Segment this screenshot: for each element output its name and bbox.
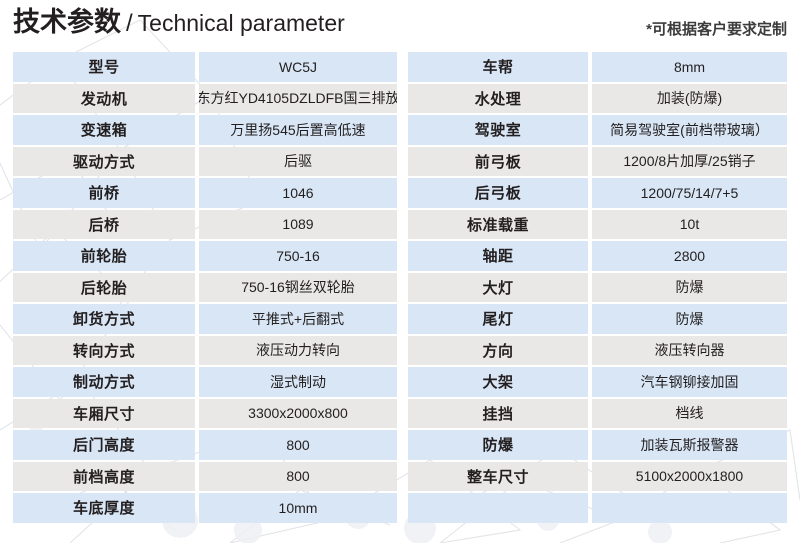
parameter-value: 东方红YD4105DZLDFB国三排放 xyxy=(199,84,397,114)
table-row: 卸货方式平推式+后翻式 xyxy=(13,304,397,334)
table-row: 后弓板1200/75/14/7+5 xyxy=(408,178,787,208)
parameter-label: 水处理 xyxy=(408,84,588,114)
parameter-label: 轴距 xyxy=(408,241,588,271)
parameter-label: 后轮胎 xyxy=(13,273,195,303)
table-row: 发动机东方红YD4105DZLDFB国三排放 xyxy=(13,84,397,114)
parameter-label: 防爆 xyxy=(408,430,588,460)
parameter-value: 液压转向器 xyxy=(592,336,787,366)
table-row: 方向液压转向器 xyxy=(408,336,787,366)
table-row: 车厢尺寸3300x2000x800 xyxy=(13,399,397,429)
page-header: 技术参数/Technical parameter *可根据客户要求定制 xyxy=(0,0,800,50)
table-row: 变速箱万里扬545后置高低速 xyxy=(13,115,397,145)
page-title-latin: Technical parameter xyxy=(138,10,345,36)
parameter-value: 10t xyxy=(592,210,787,240)
table-row: 尾灯防爆 xyxy=(408,304,787,334)
parameter-value: 3300x2000x800 xyxy=(199,399,397,429)
table-row: 转向方式液压动力转向 xyxy=(13,336,397,366)
parameter-label: 前桥 xyxy=(13,178,195,208)
page-title: 技术参数/Technical parameter xyxy=(13,5,345,44)
table-row: 制动方式湿式制动 xyxy=(13,367,397,397)
parameter-table-left: 型号WC5J发动机东方红YD4105DZLDFB国三排放变速箱万里扬545后置高… xyxy=(13,52,397,523)
parameter-label: 方向 xyxy=(408,336,588,366)
table-row: 挂挡档线 xyxy=(408,399,787,429)
parameter-value: 1200/75/14/7+5 xyxy=(592,178,787,208)
parameter-label: 制动方式 xyxy=(13,367,195,397)
table-row: 防爆加装瓦斯报警器 xyxy=(408,430,787,460)
table-row: 大架汽车钢铆接加固 xyxy=(408,367,787,397)
parameter-label: 驱动方式 xyxy=(13,147,195,177)
parameter-label: 驾驶室 xyxy=(408,115,588,145)
table-row: 驱动方式后驱 xyxy=(13,147,397,177)
parameter-value: 1089 xyxy=(199,210,397,240)
table-row: 标准载重10t xyxy=(408,210,787,240)
parameter-value: 1200/8片加厚/25销子 xyxy=(592,147,787,177)
table-row: 车帮8mm xyxy=(408,52,787,82)
parameter-value: 液压动力转向 xyxy=(199,336,397,366)
parameter-value: 简易驾驶室(前档带玻璃） xyxy=(592,115,787,145)
parameter-label: 发动机 xyxy=(13,84,195,114)
parameter-label: 后门高度 xyxy=(13,430,195,460)
parameter-value: 800 xyxy=(199,430,397,460)
parameter-label: 车帮 xyxy=(408,52,588,82)
parameter-label: 型号 xyxy=(13,52,195,82)
parameter-label: 大灯 xyxy=(408,273,588,303)
table-row: 水处理加装(防爆) xyxy=(408,84,787,114)
parameter-table-right: 车帮8mm水处理加装(防爆)驾驶室简易驾驶室(前档带玻璃）前弓板1200/8片加… xyxy=(408,52,787,523)
parameter-value: 加装(防爆) xyxy=(592,84,787,114)
parameter-value: 8mm xyxy=(592,52,787,82)
parameter-value: 加装瓦斯报警器 xyxy=(592,430,787,460)
parameter-value xyxy=(592,493,787,523)
technical-parameter-page: 技术参数/Technical parameter *可根据客户要求定制 型号WC… xyxy=(0,0,800,543)
table-row: 后桥1089 xyxy=(13,210,397,240)
page-title-cjk: 技术参数 xyxy=(13,7,121,37)
table-row: 车底厚度10mm xyxy=(13,493,397,523)
page-title-separator: / xyxy=(121,10,138,37)
parameter-value: 800 xyxy=(199,462,397,492)
parameter-value: 750-16 xyxy=(199,241,397,271)
parameter-value: 后驱 xyxy=(199,147,397,177)
parameter-label xyxy=(408,493,588,523)
table-row: 轴距2800 xyxy=(408,241,787,271)
parameter-value: 防爆 xyxy=(592,273,787,303)
parameter-value: 万里扬545后置高低速 xyxy=(199,115,397,145)
parameter-label: 后桥 xyxy=(13,210,195,240)
parameter-value: 汽车钢铆接加固 xyxy=(592,367,787,397)
parameter-value: 湿式制动 xyxy=(199,367,397,397)
table-row: 后轮胎750-16钢丝双轮胎 xyxy=(13,273,397,303)
parameter-value: 平推式+后翻式 xyxy=(199,304,397,334)
parameter-value: 750-16钢丝双轮胎 xyxy=(199,273,397,303)
parameter-label: 车厢尺寸 xyxy=(13,399,195,429)
parameter-label: 前轮胎 xyxy=(13,241,195,271)
table-row: 前档高度800 xyxy=(13,462,397,492)
table-row: 前桥1046 xyxy=(13,178,397,208)
parameter-label: 标准载重 xyxy=(408,210,588,240)
parameter-label: 前档高度 xyxy=(13,462,195,492)
table-row: 前弓板1200/8片加厚/25销子 xyxy=(408,147,787,177)
table-row xyxy=(408,493,787,523)
parameter-label: 变速箱 xyxy=(13,115,195,145)
parameter-label: 尾灯 xyxy=(408,304,588,334)
parameter-label: 挂挡 xyxy=(408,399,588,429)
table-row: 大灯防爆 xyxy=(408,273,787,303)
parameter-value: WC5J xyxy=(199,52,397,82)
parameter-value: 1046 xyxy=(199,178,397,208)
parameter-value: 10mm xyxy=(199,493,397,523)
table-row: 后门高度800 xyxy=(13,430,397,460)
parameter-value: 2800 xyxy=(592,241,787,271)
parameter-value: 档线 xyxy=(592,399,787,429)
parameter-value: 5100x2000x1800 xyxy=(592,462,787,492)
parameter-label: 大架 xyxy=(408,367,588,397)
table-row: 整车尺寸5100x2000x1800 xyxy=(408,462,787,492)
parameter-label: 卸货方式 xyxy=(13,304,195,334)
parameter-label: 车底厚度 xyxy=(13,493,195,523)
table-row: 驾驶室简易驾驶室(前档带玻璃） xyxy=(408,115,787,145)
parameter-label: 转向方式 xyxy=(13,336,195,366)
table-row: 前轮胎750-16 xyxy=(13,241,397,271)
parameter-label: 前弓板 xyxy=(408,147,588,177)
parameter-label: 后弓板 xyxy=(408,178,588,208)
table-row: 型号WC5J xyxy=(13,52,397,82)
customization-note: *可根据客户要求定制 xyxy=(646,20,787,40)
parameter-label: 整车尺寸 xyxy=(408,462,588,492)
parameter-value: 防爆 xyxy=(592,304,787,334)
